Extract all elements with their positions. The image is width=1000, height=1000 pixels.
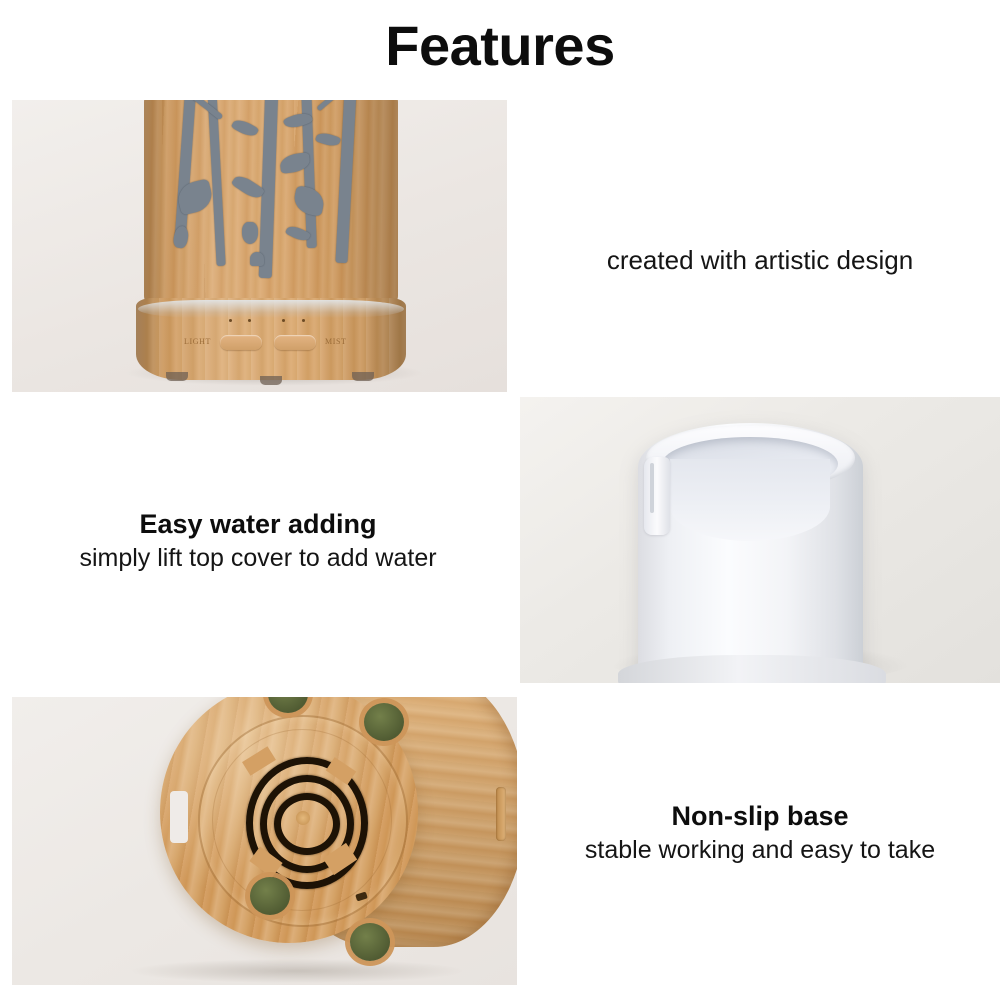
non-slip-foot	[250, 877, 290, 915]
base-foot	[352, 372, 374, 381]
diffuser-body: LIGHT MIST	[136, 100, 406, 392]
vent-grille	[244, 753, 360, 885]
carved-wood-diffuser-photo: LIGHT MIST	[12, 100, 507, 392]
indicator-dot	[282, 319, 285, 322]
light-diffuser-seam	[138, 300, 404, 318]
base-foot	[166, 372, 188, 381]
indicator-dot	[302, 319, 305, 322]
white-water-tank-photo	[520, 397, 1000, 683]
feature-caption-easy-water-adding: Easy water adding simply lift top cover …	[8, 508, 508, 574]
feature-caption-text: stable working and easy to take	[520, 834, 1000, 867]
feature-caption-text: simply lift top cover to add water	[8, 542, 508, 575]
leaf-cutout	[242, 222, 258, 244]
indicator-dot	[248, 319, 251, 322]
base-foot	[260, 376, 282, 385]
mist-button[interactable]	[274, 335, 316, 350]
vent-center-hub	[296, 811, 310, 825]
leaf-cutout	[250, 252, 264, 266]
tank-inner-wall	[670, 459, 830, 541]
non-slip-base-photo	[12, 697, 517, 985]
diffuser-base-assembly	[148, 697, 517, 985]
power-port	[496, 787, 506, 841]
non-slip-foot	[364, 703, 404, 741]
cover-lift-tab[interactable]	[644, 457, 670, 535]
base-edge-notch	[170, 791, 188, 843]
feature-headline: Non-slip base	[520, 800, 1000, 834]
diffuser-carved-shell	[144, 100, 398, 314]
feature-caption-artistic-design: created with artistic design	[520, 244, 1000, 278]
feature-caption-text: created with artistic design	[520, 244, 1000, 278]
feature-caption-non-slip-base: Non-slip base stable working and easy to…	[520, 800, 1000, 866]
non-slip-foot	[268, 697, 308, 713]
indicator-dot	[229, 319, 232, 322]
feature-headline: Easy water adding	[8, 508, 508, 542]
tank-pedestal	[618, 655, 886, 683]
vent-ring	[274, 793, 340, 855]
page-title: Features	[0, 18, 1000, 74]
non-slip-foot	[350, 923, 390, 961]
light-button-label: LIGHT	[184, 337, 211, 346]
cover-tab-notch	[650, 463, 654, 513]
light-button[interactable]	[220, 335, 262, 350]
mist-button-label: MIST	[325, 337, 347, 346]
